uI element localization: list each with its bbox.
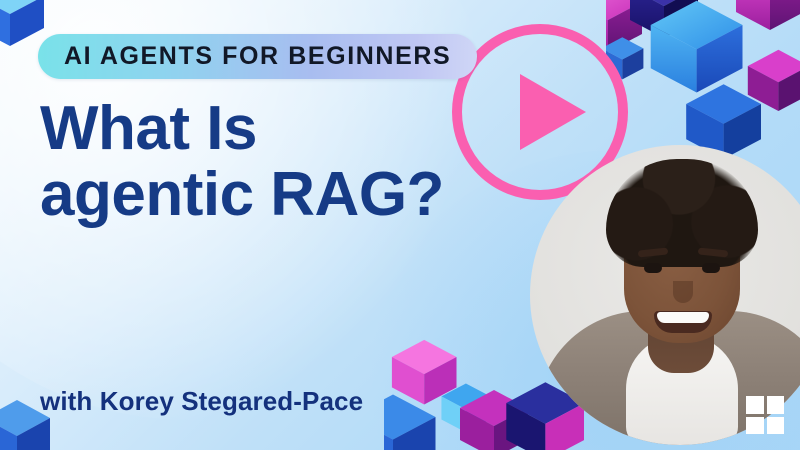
- presenter-eye-right: [702, 263, 720, 273]
- page-title: What Is agentic RAG?: [40, 96, 470, 229]
- logo-square-top-right: [767, 396, 785, 414]
- logo-square-bottom-right: [767, 417, 785, 435]
- presenter-teeth: [657, 312, 709, 323]
- video-thumbnail-card: AI AGENTS FOR BEGINNERS What Is agentic …: [0, 0, 800, 450]
- microsoft-window-logo-icon: [746, 396, 784, 434]
- series-badge[interactable]: AI AGENTS FOR BEGINNERS: [38, 34, 477, 79]
- isometric-cube-decoration-top-left: [0, 0, 46, 46]
- play-triangle-icon: [520, 74, 586, 150]
- title-line-2: agentic RAG?: [40, 162, 470, 228]
- presenter-byline: with Korey Stegared-Pace: [40, 386, 363, 417]
- presenter-mouth: [654, 311, 712, 333]
- title-line-1: What Is: [40, 96, 470, 162]
- presenter-nose: [673, 281, 693, 303]
- isometric-cube-decoration-top-right: [606, 0, 800, 170]
- series-badge-label: AI AGENTS FOR BEGINNERS: [64, 42, 451, 71]
- presenter-hair: [606, 159, 758, 267]
- logo-square-bottom-left: [746, 417, 764, 435]
- presenter-eye-left: [644, 263, 662, 273]
- logo-square-top-left: [746, 396, 764, 414]
